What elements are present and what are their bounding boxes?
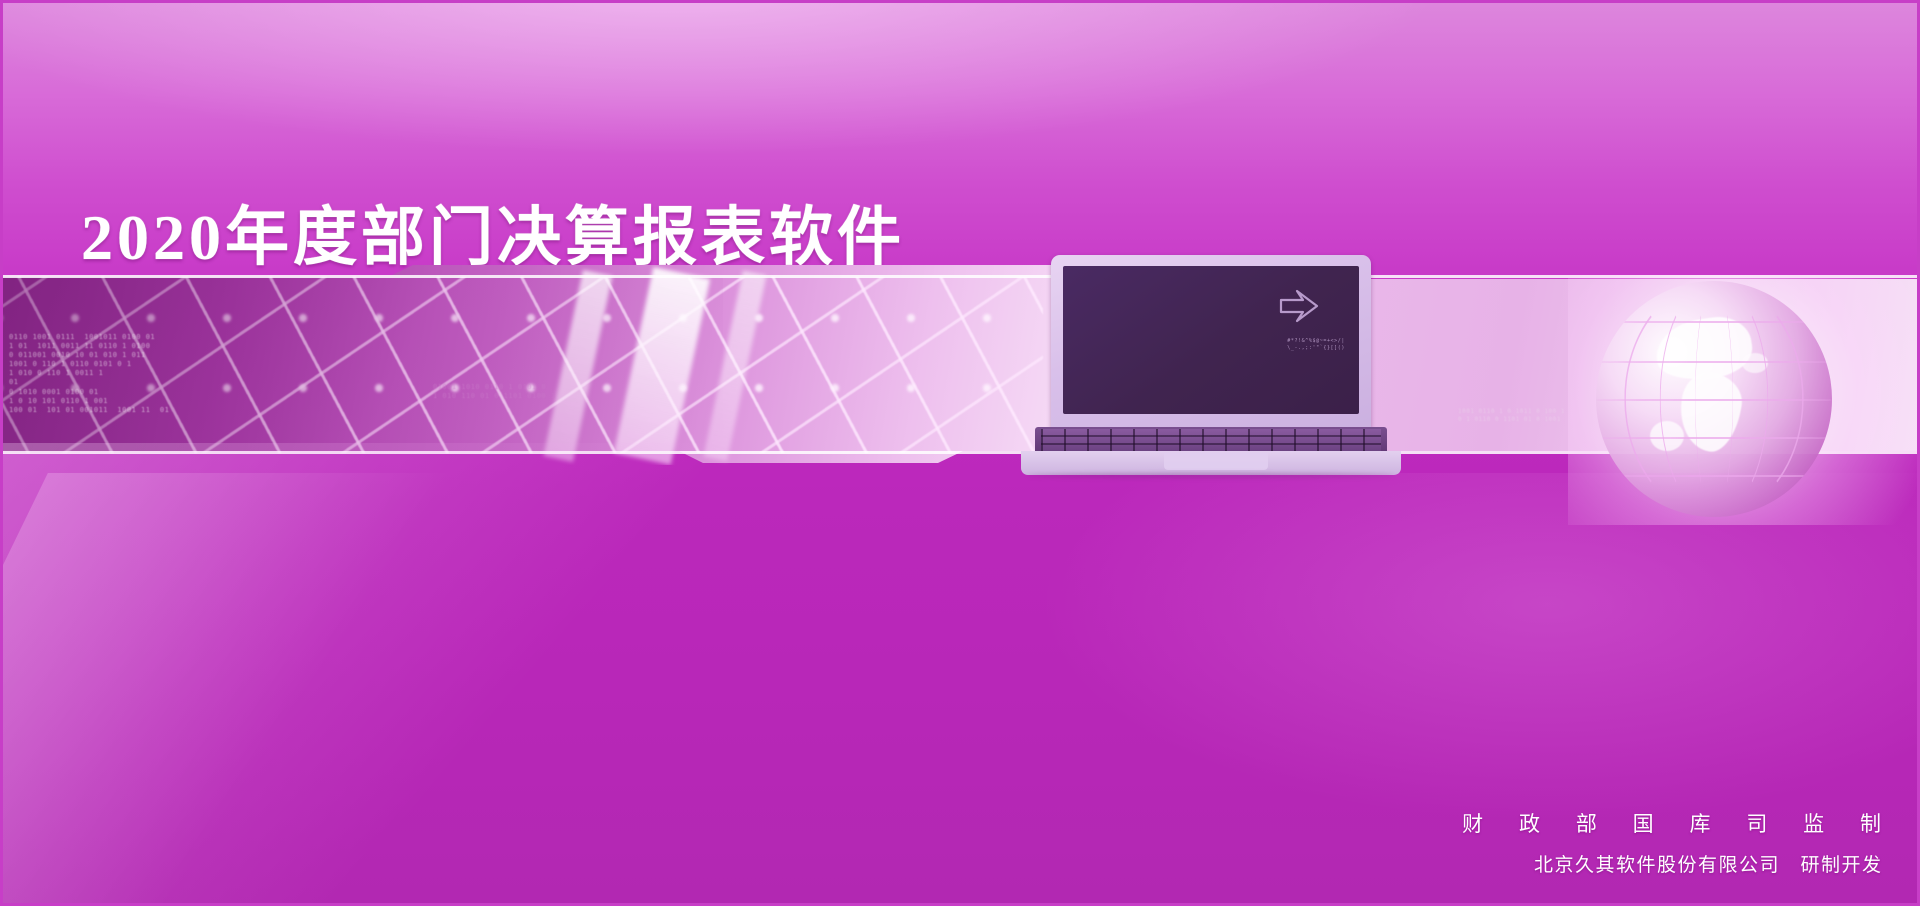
laptop-illustration: #*?!&^%$@~=+<>/| \_-.,;:'"`{}[]() [1021,255,1416,473]
lower-swoosh-decoration-1 [0,443,779,906]
arrow-right-icon [1277,286,1323,326]
credits-block: 财 政 部 国 库 司 监 制 北京久其软件股份有限公司 研制开发 [1462,808,1881,877]
laptop-screen: #*?!&^%$@~=+<>/| \_-.,;:'"`{}[]() [1063,266,1359,414]
globe-parallel-5 [1596,475,1832,477]
laptop-trackpad [1164,453,1268,470]
globe-parallel-3 [1596,399,1832,401]
lattice-shading [3,277,723,453]
globe-parallel-4 [1596,437,1832,439]
splash-screen: 2020年度部门决算报表软件 0110 1001 0111 1001011 01… [0,0,1920,906]
globe-parallel-1 [1596,321,1832,323]
credit-supervisor: 财 政 部 国 库 司 监 制 [1462,808,1896,838]
laptop-shadow [1027,473,1395,478]
laptop-lid: #*?!&^%$@~=+<>/| \_-.,;:'"`{}[]() [1051,255,1371,433]
globe-wireframe [1596,281,1832,517]
globe-illustration [1568,275,1920,525]
lower-swoosh-decoration-2 [0,473,568,903]
keyboard-keys [1041,429,1381,453]
globe-parallel-2 [1596,361,1832,363]
screen-code-text: #*?!&^%$@~=+<>/| \_-.,;:'"`{}[]() [1287,338,1345,352]
credit-developer: 北京久其软件股份有限公司 研制开发 [1462,850,1882,877]
